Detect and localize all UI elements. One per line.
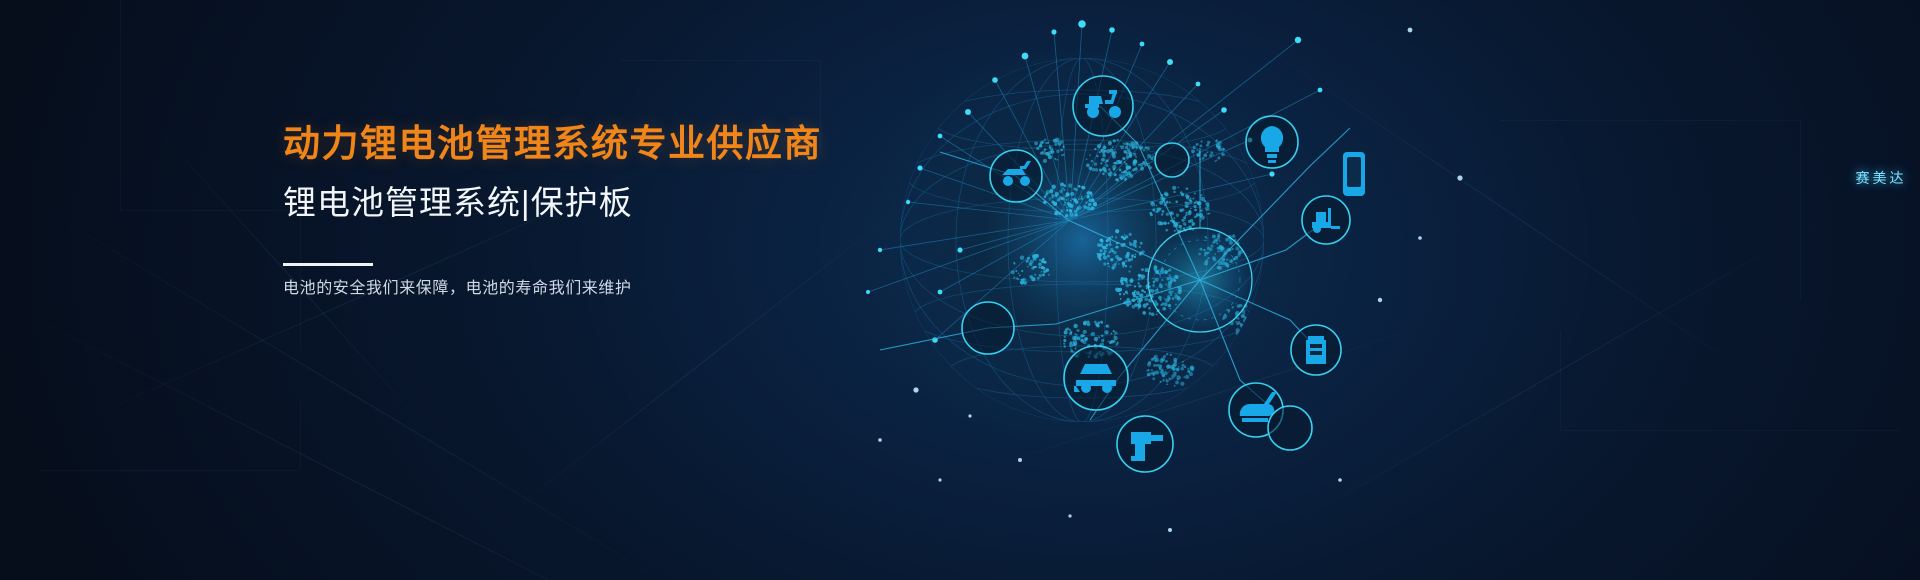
battery-node-icon (1291, 325, 1341, 375)
car-node-icon (1064, 346, 1128, 410)
banner-root: 赛美达 动力锂电池管理系统专业供应商 锂电池管理系统|保护板 电池的安全我们来保… (0, 0, 1920, 580)
banner-subtitle: 锂电池管理系统|保护板 (283, 186, 843, 219)
banner-text-block: 动力锂电池管理系统专业供应商 锂电池管理系统|保护板 电池的安全我们来保障，电池… (283, 125, 843, 300)
empty-node-lower (1268, 406, 1312, 450)
banner-headline: 动力锂电池管理系统专业供应商 (283, 125, 843, 162)
banner-tagline: 电池的安全我们来保障，电池的寿命我们来维护 (283, 279, 843, 300)
empty-node-upper (1155, 143, 1189, 177)
divider-rule (283, 263, 373, 266)
scooter-node-icon (1073, 76, 1133, 136)
drill-node-icon (1117, 416, 1173, 472)
ebike-node-icon (990, 150, 1042, 202)
network-globe-illustration: 赛美达 (820, 0, 1540, 580)
phone-node-icon (1343, 152, 1365, 253)
empty-node-left (962, 302, 1014, 354)
hub-label: 赛美达 (1838, 168, 1920, 188)
